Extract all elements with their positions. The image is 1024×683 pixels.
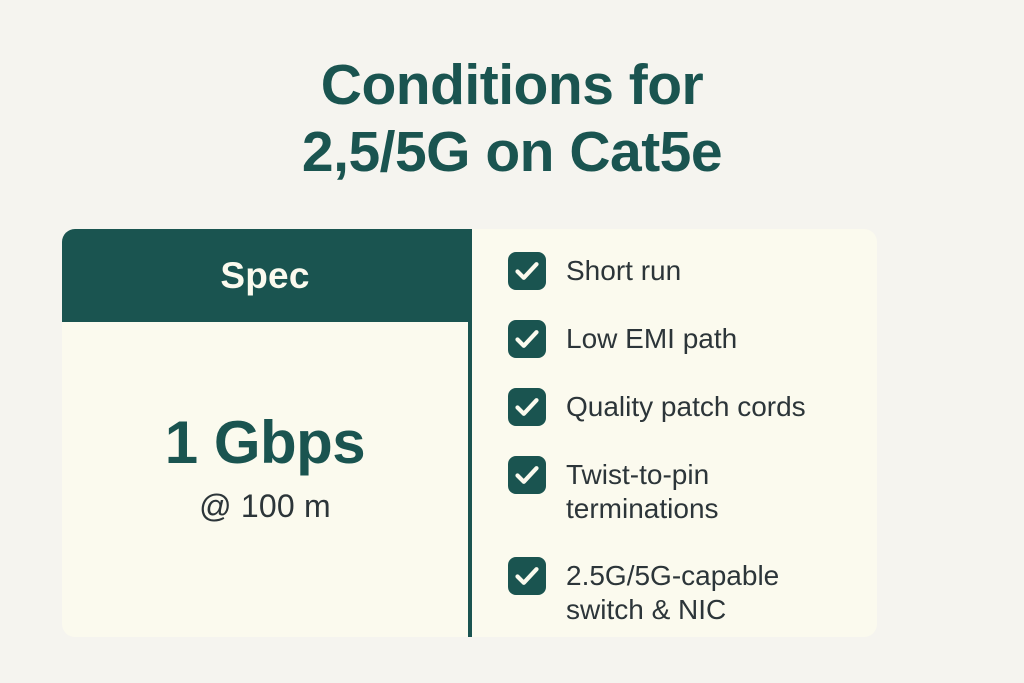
- checklist-item-label: Short run: [566, 252, 681, 288]
- spec-header-label: Spec: [220, 255, 309, 297]
- check-icon[interactable]: [508, 252, 546, 290]
- checklist-item-label: Low EMI path: [566, 320, 737, 356]
- check-icon[interactable]: [508, 388, 546, 426]
- page-title-line-1: Conditions for: [0, 52, 1024, 119]
- spec-column-body: 1 Gbps @ 100 m: [62, 322, 468, 637]
- checklist-item[interactable]: Low EMI path: [508, 320, 853, 358]
- page-title-line-2: 2,5/5G on Cat5e: [0, 119, 1024, 186]
- checklist-item[interactable]: Twist-to-pin terminations: [508, 456, 853, 527]
- checklist-item[interactable]: Short run: [508, 252, 853, 290]
- checklist-item[interactable]: Quality patch cords: [508, 388, 853, 426]
- checklist-column: Short run Low EMI path Quality patch cor…: [472, 229, 877, 637]
- spec-column-header: Spec: [62, 229, 468, 322]
- page-title: Conditions for 2,5/5G on Cat5e: [0, 52, 1024, 187]
- checklist-item[interactable]: 2.5G/5G-capable switch & NIC: [508, 557, 853, 628]
- spec-note: @ 100 m: [199, 488, 331, 525]
- checklist-item-label: Twist-to-pin terminations: [566, 456, 853, 527]
- comparison-card: Spec 1 Gbps @ 100 m Short run Low EMI pa…: [62, 229, 877, 637]
- checklist-item-label: Quality patch cords: [566, 388, 806, 424]
- spec-column: Spec 1 Gbps @ 100 m: [62, 229, 472, 637]
- checklist-item-label: 2.5G/5G-capable switch & NIC: [566, 557, 853, 628]
- check-icon[interactable]: [508, 557, 546, 595]
- spec-value: 1 Gbps: [165, 411, 365, 474]
- check-icon[interactable]: [508, 320, 546, 358]
- check-icon[interactable]: [508, 456, 546, 494]
